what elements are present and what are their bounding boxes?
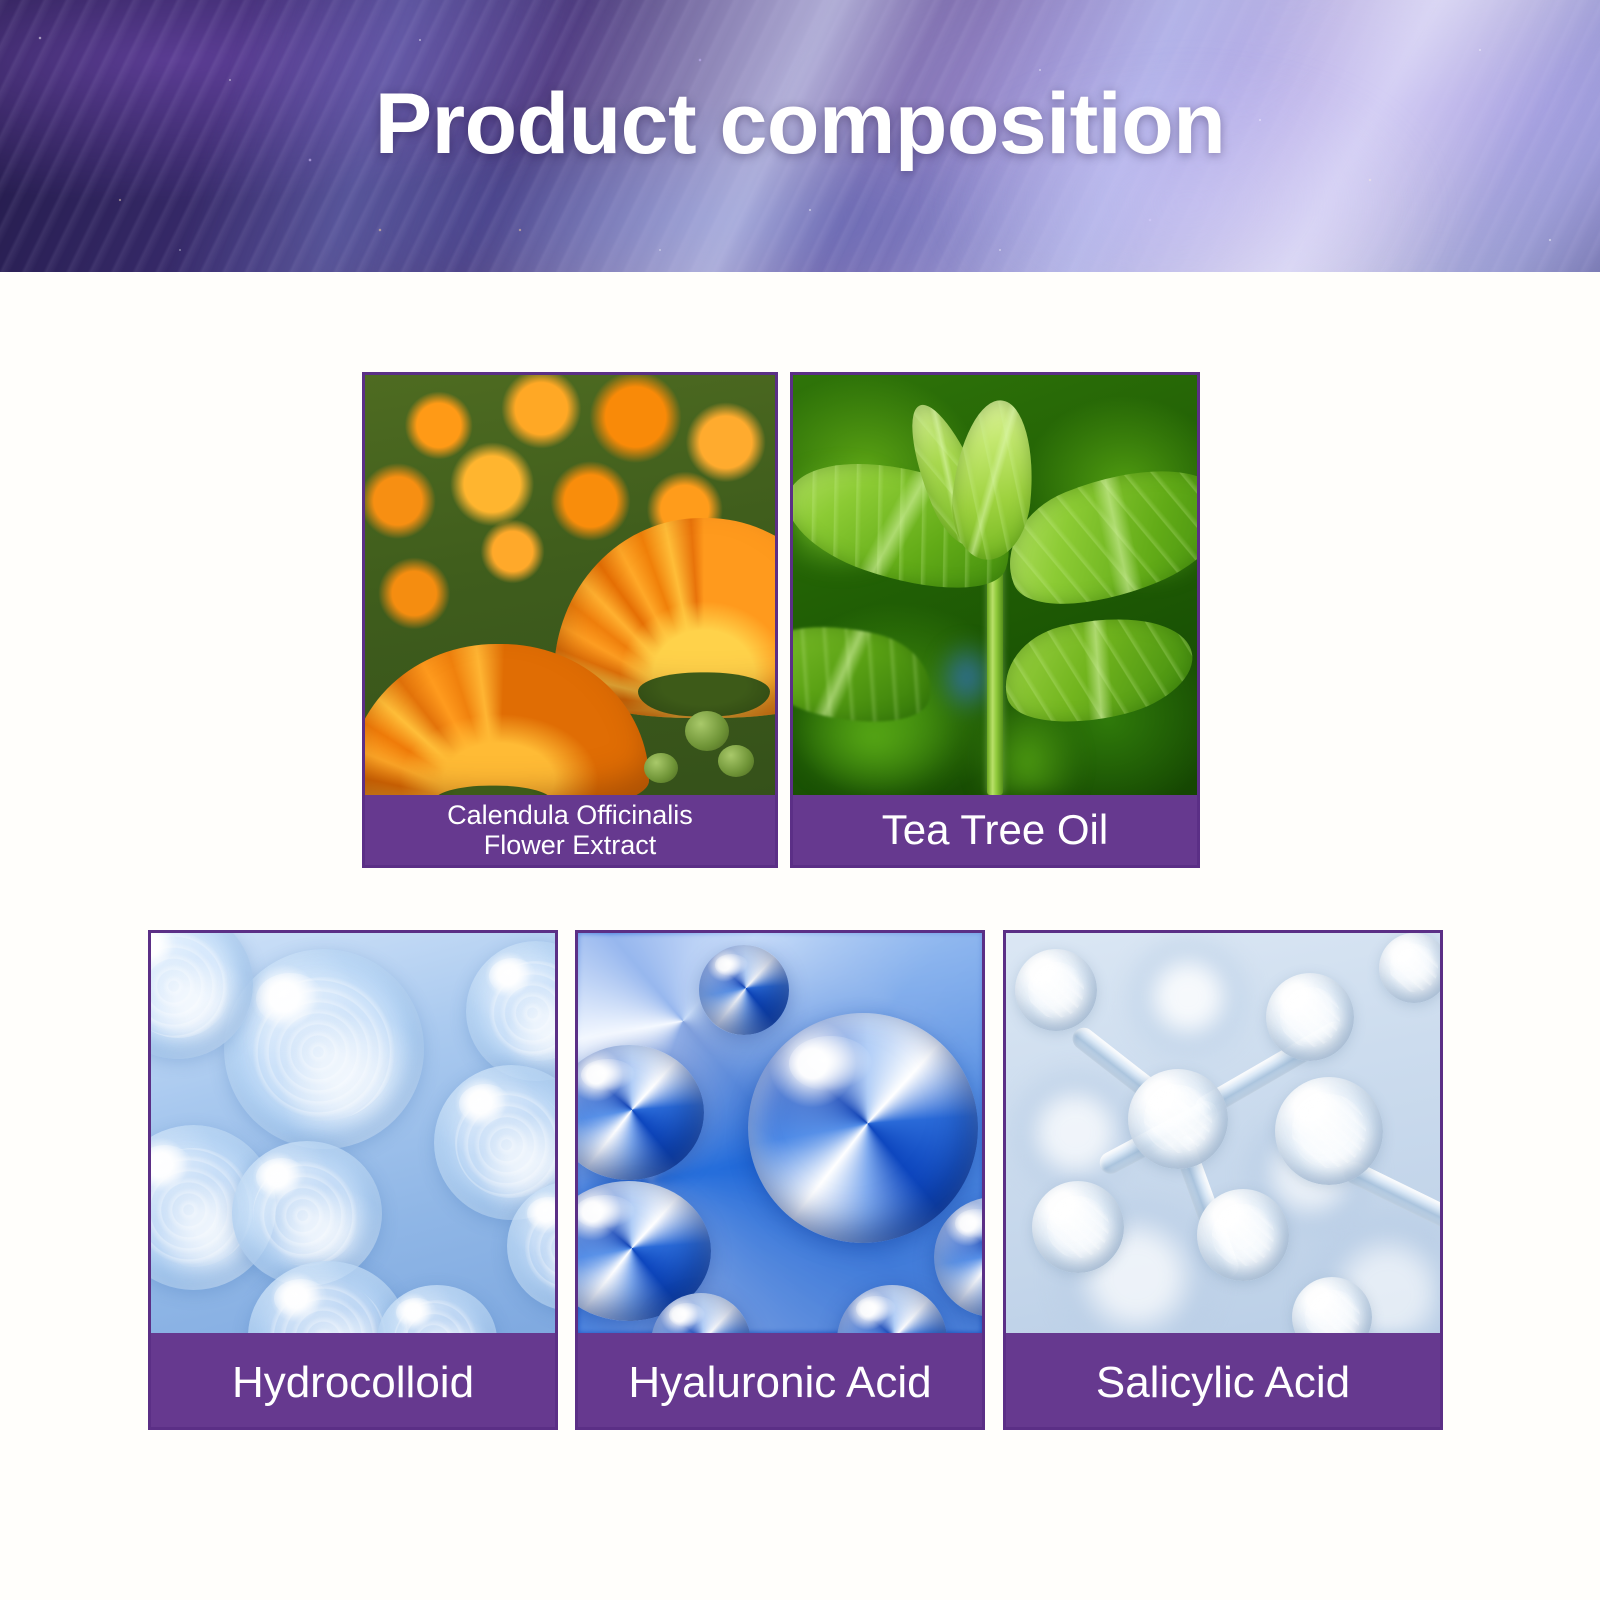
plant-stem — [987, 551, 1003, 795]
glossy-sphere — [748, 1013, 978, 1243]
product-composition-infographic: Product composition Calendula Offici — [0, 0, 1600, 1600]
tea-tree-leaf-image — [793, 375, 1197, 795]
water-bubble — [224, 949, 424, 1149]
ingredient-label-hydrocolloid: Hydrocolloid — [151, 1333, 555, 1430]
salicylic-acid-molecule-image — [1006, 933, 1440, 1333]
header-banner: Product composition — [0, 0, 1600, 272]
ingredient-card-tea-tree-oil[interactable]: Tea Tree Oil — [790, 372, 1200, 868]
molecule-atom — [1275, 1077, 1383, 1185]
ingredient-label-salicylic-acid: Salicylic Acid — [1006, 1333, 1440, 1430]
flower-center — [433, 785, 553, 795]
ingredient-card-hyaluronic-acid[interactable]: Hyaluronic Acid — [575, 930, 985, 1430]
ingredient-label-hyaluronic-acid: Hyaluronic Acid — [578, 1333, 982, 1430]
molecule-atom — [1015, 949, 1097, 1031]
hydrocolloid-bubbles-image — [151, 933, 555, 1333]
label-line-2: Flower Extract — [447, 830, 693, 860]
water-bubble — [466, 941, 555, 1081]
flower-bud — [644, 753, 678, 783]
flower-bud — [718, 745, 754, 777]
flower-bud — [685, 711, 729, 751]
page-title: Product composition — [0, 78, 1600, 171]
molecule-atom — [1032, 1181, 1124, 1273]
flower-center — [638, 672, 770, 716]
ingredient-card-calendula[interactable]: Calendula Officinalis Flower Extract — [362, 372, 778, 868]
molecule-atom — [1266, 973, 1354, 1061]
molecule-atom — [1379, 933, 1440, 1003]
ingredient-card-salicylic-acid[interactable]: Salicylic Acid — [1003, 930, 1443, 1430]
ingredient-label-tea-tree-oil: Tea Tree Oil — [793, 795, 1197, 865]
ingredient-card-hydrocolloid[interactable]: Hydrocolloid — [148, 930, 558, 1430]
label-text: Tea Tree Oil — [882, 806, 1108, 853]
ingredient-label-calendula: Calendula Officinalis Flower Extract — [365, 795, 775, 865]
label-line-1: Calendula Officinalis — [447, 800, 693, 830]
water-bubble — [377, 1285, 497, 1333]
molecule-atom — [1197, 1189, 1289, 1281]
hyaluronic-acid-spheres-image — [578, 933, 982, 1333]
label-text: Salicylic Acid — [1096, 1358, 1350, 1407]
calendula-flower-image — [365, 375, 775, 795]
label-text: Hyaluronic Acid — [628, 1358, 931, 1407]
label-text: Hydrocolloid — [232, 1358, 474, 1407]
molecule-atom — [1128, 1069, 1228, 1169]
glossy-sphere — [699, 945, 789, 1035]
